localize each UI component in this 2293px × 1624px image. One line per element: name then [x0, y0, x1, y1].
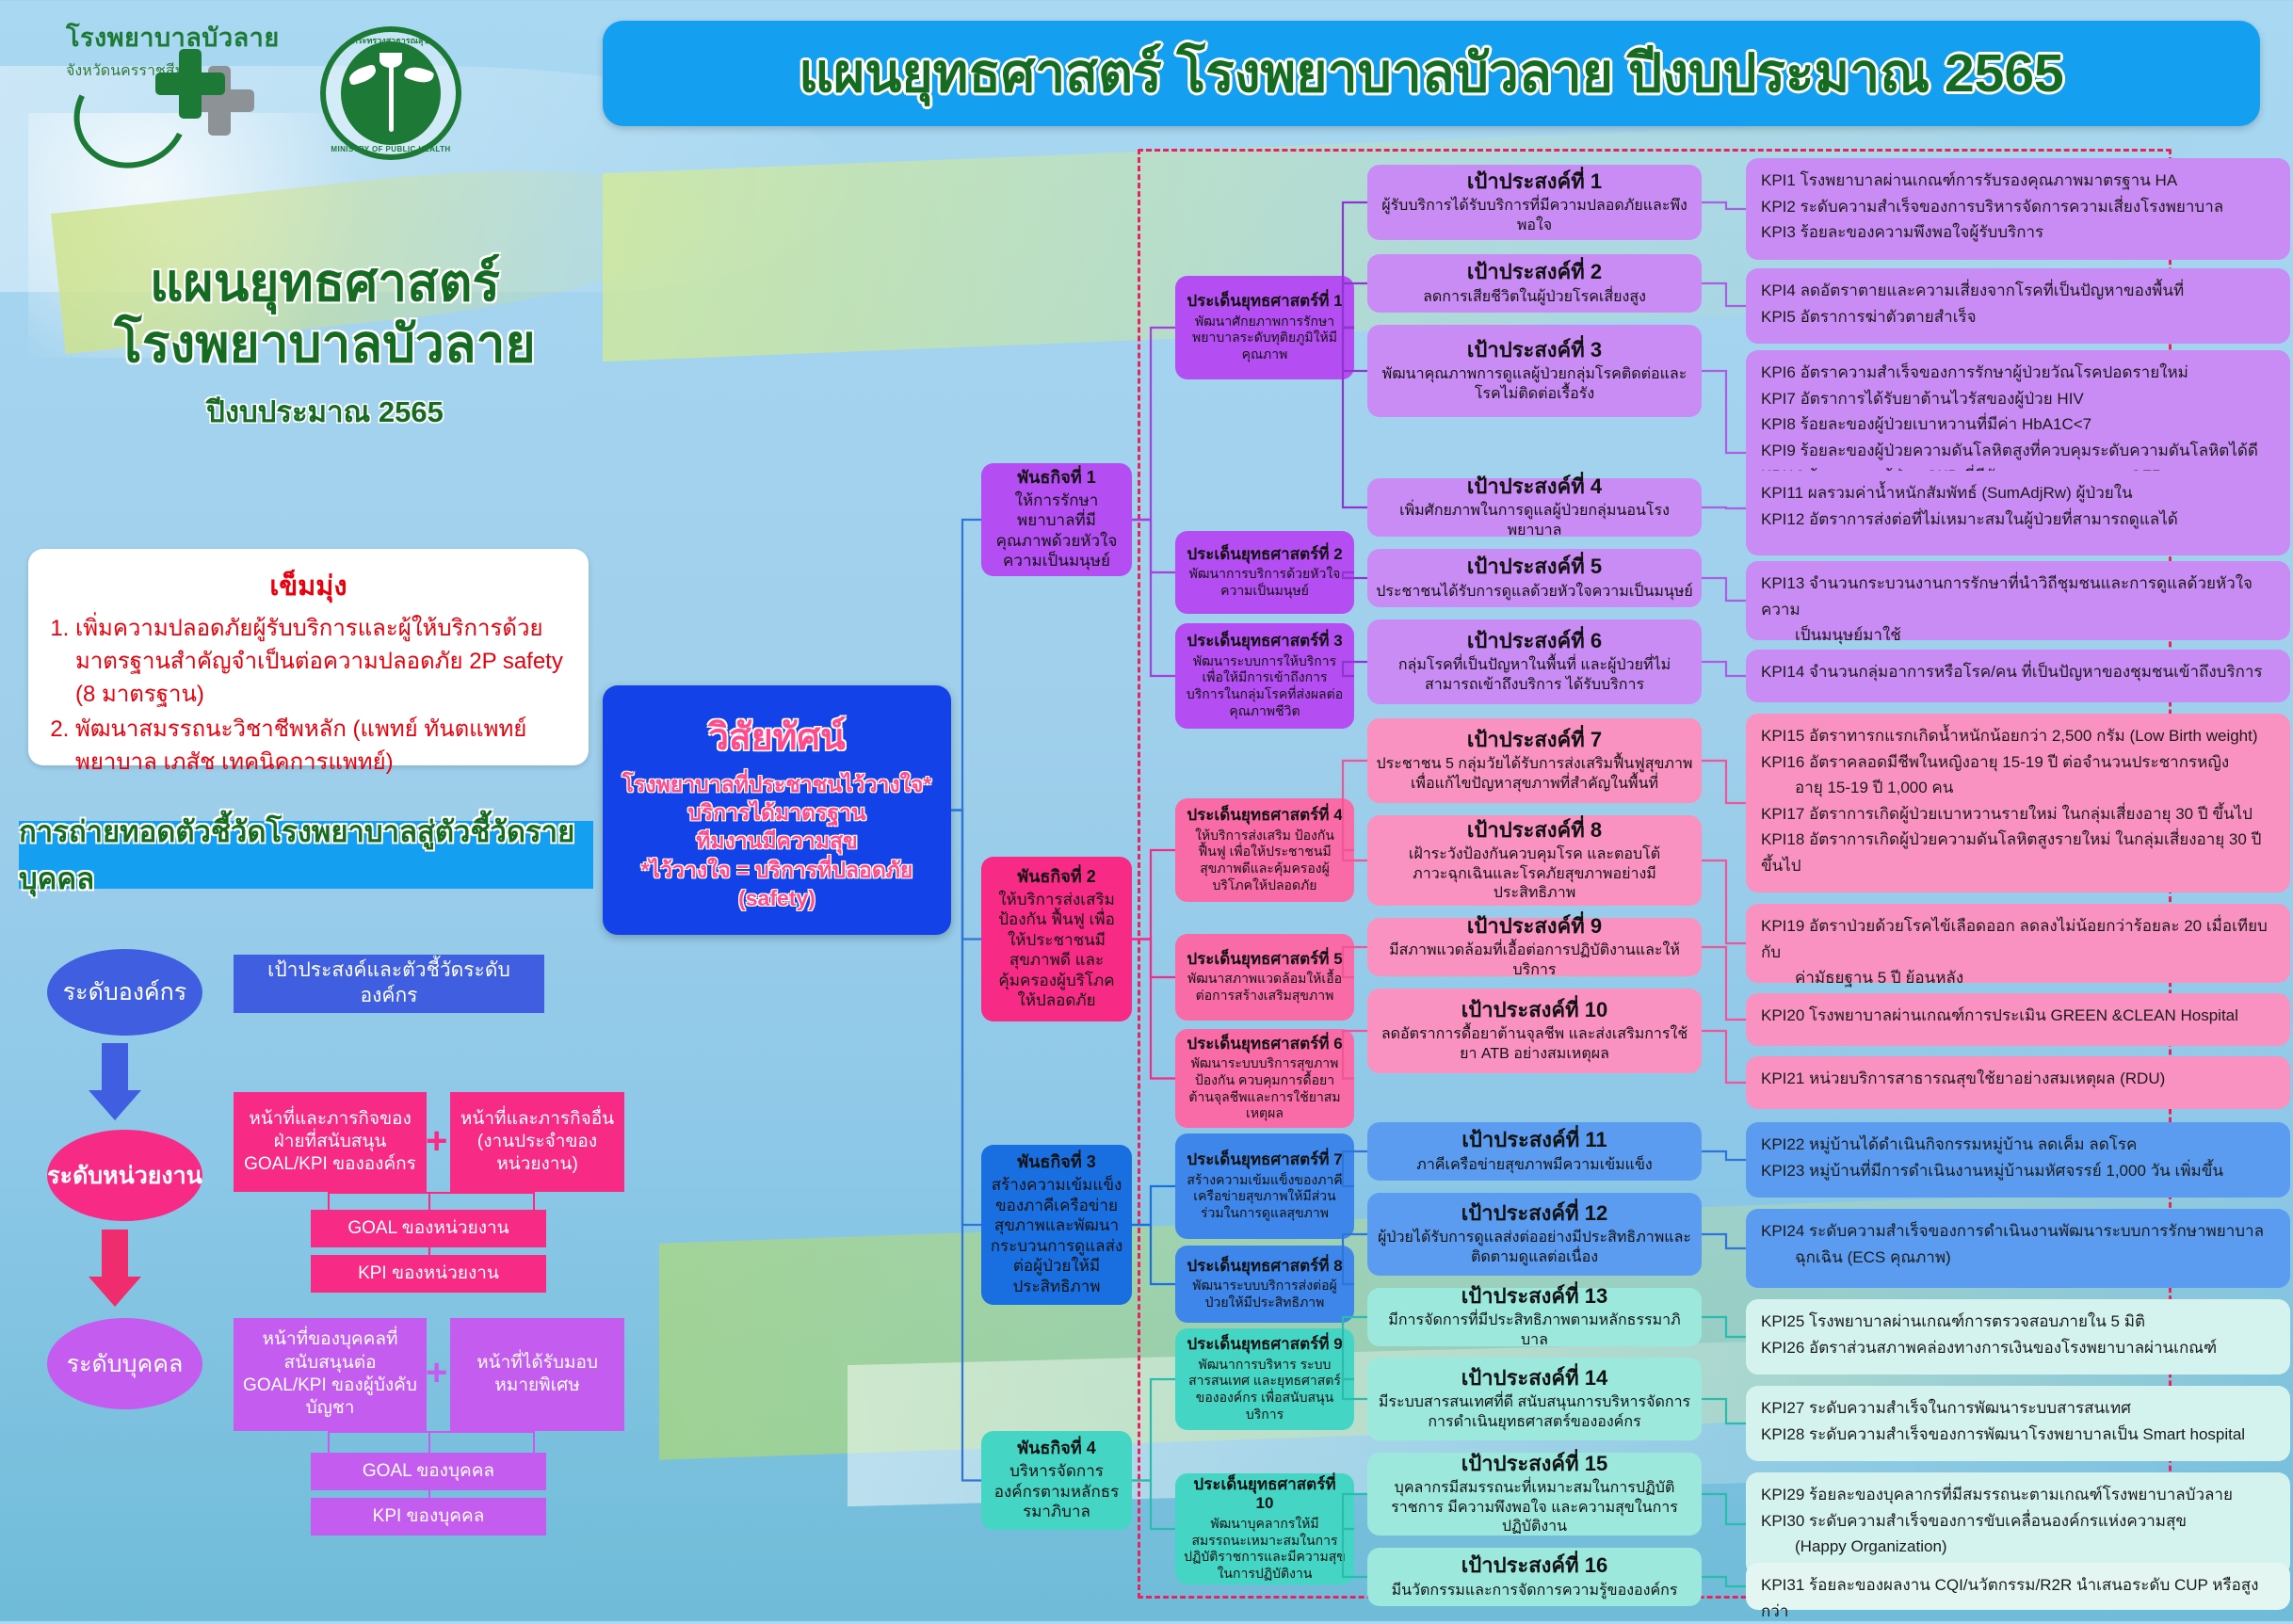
strategic-issue-box-4: ประเด็นยุทธศาสตร์ที่ 4 ให้บริการส่งเสริม… [1175, 798, 1354, 902]
objective-box-9: เป้าประสงค์ที่ 9 มีสภาพแวดล้อมที่เอื้อต่… [1367, 918, 1702, 976]
objective-body: ประชาชน 5 กลุ่มวัยได้รับการส่งเสริมฟื้นฟ… [1376, 755, 1693, 794]
vision-line: โรงพยาบาลที่ประชาชนไว้วางใจ* [622, 770, 932, 798]
objective-box-3: เป้าประสงค์ที่ 3 พัฒนาคุณภาพการดูแลผู้ป่… [1367, 325, 1702, 417]
arrow-down-pink-shaft [102, 1230, 128, 1278]
objective-box-8: เป้าประสงค์ที่ 8 เฝ้าระวังป้องกันควบคุมโ… [1367, 815, 1702, 906]
cascade-level-person: ระดับบุคคล [47, 1318, 202, 1409]
kpi-line: KPI5 อัตราการฆ่าตัวตายสำเร็จ [1761, 304, 2275, 330]
kpi-line: KPI21 หน่วยบริการสาธารณสุขใช้ยาอย่างสมเห… [1761, 1066, 2275, 1092]
mission-box-3: พันธกิจที่ 3 สร้างความเข้มแข็งของภาคีเคร… [981, 1145, 1132, 1305]
kpi-line: KPI13 จำนวนกระบวนงานการรักษาที่นำวิถีชุม… [1761, 571, 2275, 622]
strategic-issue-body: สร้างความเข้มแข็งของภาคีเครือข่ายสุขภาพใ… [1184, 1172, 1346, 1222]
left-title-line2: โรงพยาบาลบัวลาย [42, 314, 607, 375]
plus-icon-person: + [426, 1354, 447, 1391]
objective-box-10: เป้าประสงค์ที่ 10 ลดอัตราการดื้อยาต้านจุ… [1367, 989, 1702, 1073]
kpi-line: KPI14 จำนวนกลุ่มอาการหรือโรค/คน ที่เป็นป… [1761, 659, 2275, 685]
objective-body: เพิ่มศักยภาพในการดูแลผู้ป่วยกลุ่มนอนโรงพ… [1376, 502, 1693, 540]
kpi-line: KPI1 โรงพยาบาลผ่านเกณฑ์การรับรองคุณภาพมา… [1761, 168, 2275, 194]
objective-box-4: เป้าประสงค์ที่ 4 เพิ่มศักยภาพในการดูแลผู… [1367, 478, 1702, 537]
strategic-issue-box-9: ประเด็นยุทธศาสตร์ที่ 9 พัฒนาการบริหาร ระ… [1175, 1328, 1354, 1430]
cascade-banner: การถ่ายทอดตัวชี้วัดโรงพยาบาลสู่ตัวชี้วัด… [19, 821, 593, 889]
kpi-group-15: KPI29 ร้อยละของบุคลากรที่มีสมรรถนะตามเกณ… [1746, 1472, 2290, 1576]
strategic-issue-title: ประเด็นยุทธศาสตร์ที่ 8 [1187, 1257, 1342, 1276]
objective-body: ผู้รับบริการได้รับบริการที่มีความปลอดภัย… [1376, 197, 1693, 235]
strategic-issue-body: ให้บริการส่งเสริม ป้องกัน ฟื้นฟู เพื่อให… [1184, 828, 1346, 894]
objective-body: ลดการเสียชีวิตในผู้ป่วยโรคเสี่ยงสูง [1423, 288, 1646, 307]
left-title-line3: ปีงบประมาณ 2565 [42, 388, 607, 435]
cascade-person-kpi: KPI ของบุคคล [311, 1498, 546, 1536]
objective-body: ประชาชนได้รับการดูแลด้วยหัวใจความเป็นมนุ… [1376, 583, 1693, 602]
kpi-line: KPI4 ลดอัตราตายและความเสี่ยงจากโรคที่เป็… [1761, 278, 2275, 304]
objective-title: เป้าประสงค์ที่ 15 [1461, 1452, 1607, 1476]
connector-person-left [328, 1431, 330, 1453]
objective-body: ลดอัตราการดื้อยาต้านจุลชีพ และส่งเสริมกา… [1376, 1025, 1693, 1064]
cascade-person-box-2: หน้าที่ได้รับมอบหมายพิเศษ [450, 1318, 624, 1431]
arrow-down-pink-head [89, 1277, 141, 1307]
mission-title: พันธกิจที่ 4 [1017, 1439, 1095, 1459]
kpi-line: ฉุกเฉิน (ECS คุณภาพ) [1761, 1245, 2275, 1271]
kpi-group-2: KPI4 ลดอัตราตายและความเสี่ยงจากโรคที่เป็… [1746, 268, 2290, 344]
vision-card: วิสัยทัศน์ โรงพยาบาลที่ประชาชนไว้วางใจ* … [603, 685, 951, 935]
kpi-line: KPI15 อัตราทารกแรกเกิดน้ำหนักน้อยกว่า 2,… [1761, 723, 2275, 749]
kpi-group-6: KPI14 จำนวนกลุ่มอาการหรือโรค/คน ที่เป็นป… [1746, 650, 2290, 702]
focus-points-card: เข็มมุ่ง เพิ่มความปลอดภัยผู้รับบริการและ… [28, 549, 589, 765]
arrow-down-blue-shaft [102, 1043, 128, 1092]
objective-box-14: เป้าประสงค์ที่ 14 มีระบบสารสนเทศที่ดี สน… [1367, 1358, 1702, 1440]
kpi-line: KPI25 โรงพยาบาลผ่านเกณฑ์การตรวจสอบภายใน … [1761, 1309, 2275, 1335]
cascade-level-unit: ระดับหน่วยงาน [47, 1130, 202, 1221]
objective-body: บุคลากรมีสมรรถนะที่เหมาะสมในการปฏิบัติรา… [1376, 1479, 1693, 1536]
objective-title: เป้าประสงค์ที่ 8 [1467, 818, 1602, 843]
connector-unit-mid [428, 1247, 430, 1255]
kpi-group-12: KPI24 ระดับความสำเร็จของการดำเนินงานพัฒน… [1746, 1209, 2290, 1288]
connector-person-right [533, 1431, 535, 1453]
mission-title: พันธกิจที่ 3 [1017, 1152, 1095, 1173]
mission-body: สร้างความเข้มแข็งของภาคีเครือข่ายสุขภาพแ… [990, 1175, 1123, 1296]
strategic-issue-box-7: ประเด็นยุทธศาสตร์ที่ 7 สร้างความเข้มแข็ง… [1175, 1134, 1354, 1239]
cascade-level-org: ระดับองค์กร [47, 949, 202, 1036]
page-title: แผนยุทธศาสตร์ โรงพยาบาลบัวลาย ปีงบประมาณ… [799, 31, 2064, 116]
kpi-line: KPI6 อัตราความสำเร็จของการรักษาผู้ป่วยวั… [1761, 360, 2275, 386]
objective-box-12: เป้าประสงค์ที่ 12 ผู้ป่วยได้รับการดูแลส่… [1367, 1193, 1702, 1276]
moph-seal-icon: กระทรวงสาธารณสุข MINISTRY OF PUBLIC HEAL… [320, 26, 461, 160]
strategic-issue-title: ประเด็นยุทธศาสตร์ที่ 1 [1187, 292, 1342, 311]
kpi-line: KPI29 ร้อยละของบุคลากรที่มีสมรรถนะตามเกณ… [1761, 1482, 2275, 1508]
mission-title: พันธกิจที่ 1 [1017, 468, 1095, 489]
kpi-line: KPI2 ระดับความสำเร็จของการบริหารจัดการคว… [1761, 194, 2275, 220]
kpi-line: KPI12 อัตราการส่งต่อที่ไม่เหมาะสมในผู้ป่… [1761, 506, 2275, 533]
kpi-line: KPI22 หมู่บ้านได้ดำเนินกิจกรรมหมู่บ้าน ล… [1761, 1132, 2275, 1158]
objective-body: ภาคีเครือข่ายสุขภาพมีความเข้มแข็ง [1416, 1156, 1652, 1175]
kpi-line: KPI8 ร้อยละของผู้ป่วยเบาหวานที่มีค่า HbA… [1761, 411, 2275, 438]
kpi-group-16: KPI31 ร้อยละของผลงาน CQI/นวัตกรรม/R2R นำ… [1746, 1563, 2290, 1610]
connector-person-vertical [428, 1431, 430, 1453]
vision-line: ทีมงานมีความสุข [696, 827, 858, 855]
connector-person-mid [428, 1490, 430, 1498]
vision-line: *ไว้วางใจ = บริการที่ปลอดภัย (safety) [610, 856, 944, 913]
objective-title: เป้าประสงค์ที่ 6 [1467, 629, 1602, 653]
strategic-issue-body: พัฒนาการบริการด้วยหัวใจความเป็นมนุษย์ [1184, 566, 1346, 600]
connector-unit-vertical [428, 1192, 430, 1210]
cascade-unit-goal: GOAL ของหน่วยงาน [311, 1210, 546, 1247]
kpi-line: KPI7 อัตราการได้รับยาต้านไวรัสของผู้ป่วย… [1761, 386, 2275, 412]
mission-body: ให้บริการส่งเสริม ป้องกัน ฟื้นฟู เพื่อให… [990, 890, 1123, 1011]
kpi-line: (Happy Organization) [1761, 1534, 2275, 1560]
kpi-group-4: KPI11 ผลรวมค่าน้ำหนักสัมพัทธ์ (SumAdjRw)… [1746, 471, 2290, 546]
cascade-banner-title: การถ่ายทอดตัวชี้วัดโรงพยาบาลสู่ตัวชี้วัด… [19, 808, 593, 902]
objective-title: เป้าประสงค์ที่ 14 [1461, 1366, 1607, 1391]
kpi-line: KPI19 อัตราป่วยด้วยโรคไข้เลือดออก ลดลงไม… [1761, 913, 2275, 965]
focus-point-item: เพิ่มความปลอดภัยผู้รับบริการและผู้ให้บริ… [75, 613, 573, 711]
focus-point-item: พัฒนาสมรรถนะวิชาชีพหลัก (แพทย์ ทันตแพทย์… [75, 714, 573, 780]
mission-box-1: พันธกิจที่ 1 ให้การรักษาพยาบาลที่มีคุณภา… [981, 463, 1132, 576]
strategic-issue-body: พัฒนาระบบบริการสุขภาพ ป้องกัน ควบคุมการด… [1184, 1055, 1346, 1122]
objective-title: เป้าประสงค์ที่ 1 [1467, 169, 1602, 194]
mission-body: ให้การรักษาพยาบาลที่มีคุณภาพด้วยหัวใจควา… [990, 490, 1123, 571]
strategic-issue-title: ประเด็นยุทธศาสตร์ที่ 6 [1187, 1035, 1342, 1053]
strategic-issue-box-1: ประเด็นยุทธศาสตร์ที่ 1 พัฒนาศักยภาพการรั… [1175, 276, 1354, 379]
cascade-person-box-1: หน้าที่ของบุคคลที่สนับสนุนต่อ GOAL/KPI ข… [234, 1318, 427, 1431]
objective-box-16: เป้าประสงค์ที่ 16 มีนวัตกรรมและการจัดการ… [1367, 1548, 1702, 1606]
strategic-issue-title: ประเด็นยุทธศาสตร์ที่ 5 [1187, 950, 1342, 969]
kpi-line: เป็นมนุษย์มาใช้ [1761, 622, 2275, 649]
moph-seal-english-text: MINISTRY OF PUBLIC HEALTH [320, 145, 461, 153]
strategic-issue-body: พัฒนาศักยภาพการรักษาพยาบาลระดับทุติยภูมิ… [1184, 314, 1346, 363]
strategic-issue-title: ประเด็นยุทธศาสตร์ที่ 2 [1187, 545, 1342, 564]
connector-unit-right [533, 1192, 535, 1210]
kpi-group-13: KPI25 โรงพยาบาลผ่านเกณฑ์การตรวจสอบภายใน … [1746, 1299, 2290, 1375]
mission-box-2: พันธกิจที่ 2 ให้บริการส่งเสริม ป้องกัน ฟ… [981, 857, 1132, 1021]
focus-points-list: เพิ่มความปลอดภัยผู้รับบริการและผู้ให้บริ… [43, 613, 573, 780]
strategic-issue-body: พัฒนาระบบบริการส่งต่อผู้ป่วยให้มีประสิทธ… [1184, 1278, 1346, 1311]
kpi-group-11: KPI22 หมู่บ้านได้ดำเนินกิจกรรมหมู่บ้าน ล… [1746, 1122, 2290, 1198]
objective-box-7: เป้าประสงค์ที่ 7 ประชาชน 5 กลุ่มวัยได้รั… [1367, 718, 1702, 803]
strategic-issue-title: ประเด็นยุทธศาสตร์ที่ 4 [1187, 806, 1342, 825]
connector-person-horizontal [328, 1431, 535, 1433]
plus-icon-unit: + [426, 1122, 447, 1160]
kpi-line: อายุ 15-19 ปี 1,000 คน [1761, 775, 2275, 801]
vision-heading: วิสัยทัศน์ [708, 708, 846, 766]
cascade-unit-box-2: หน้าที่และภารกิจอื่น (งานประจำของหน่วยงา… [450, 1092, 624, 1192]
kpi-line: KPI3 ร้อยละของความพึงพอใจผู้รับบริการ [1761, 219, 2275, 246]
objective-title: เป้าประสงค์ที่ 7 [1467, 728, 1602, 752]
kpi-line: KPI24 ระดับความสำเร็จของการดำเนินงานพัฒน… [1761, 1218, 2275, 1245]
mission-box-4: พันธกิจที่ 4 บริหารจัดการองค์กรตามหลักธร… [981, 1431, 1132, 1530]
kpi-line: KPI17 อัตราการเกิดผู้ป่วยเบาหวานรายใหม่ … [1761, 801, 2275, 828]
left-title-line1: แผนยุทธศาสตร์ [42, 252, 607, 314]
objective-box-5: เป้าประสงค์ที่ 5 ประชาชนได้รับการดูแลด้ว… [1367, 549, 1702, 607]
kpi-line: KPI11 ผลรวมค่าน้ำหนักสัมพัทธ์ (SumAdjRw)… [1761, 480, 2275, 506]
objective-box-13: เป้าประสงค์ที่ 13 มีการจัดการที่มีประสิท… [1367, 1288, 1702, 1346]
strategic-issue-box-10: ประเด็นยุทธศาสตร์ที่ 10 พัฒนาบุคลากรให้ม… [1175, 1473, 1354, 1584]
objective-box-6: เป้าประสงค์ที่ 6 กลุ่มโรคที่เป็นปัญหาในพ… [1367, 619, 1702, 704]
green-cross-icon [155, 49, 225, 119]
strategic-issue-title: ประเด็นยุทธศาสตร์ที่ 7 [1187, 1150, 1342, 1169]
kpi-group-1: KPI1 โรงพยาบาลผ่านเกณฑ์การรับรองคุณภาพมา… [1746, 158, 2290, 260]
strategic-issue-box-5: ประเด็นยุทธศาสตร์ที่ 5 พัฒนาสภาพแวดล้อมใ… [1175, 934, 1354, 1021]
strategic-issue-title: ประเด็นยุทธศาสตร์ที่ 9 [1187, 1335, 1342, 1354]
objective-title: เป้าประสงค์ที่ 16 [1461, 1553, 1607, 1578]
kpi-group-10: KPI21 หน่วยบริการสาธารณสุขใช้ยาอย่างสมเห… [1746, 1056, 2290, 1109]
kpi-group-5: KPI13 จำนวนกระบวนงานการรักษาที่นำวิถีชุม… [1746, 561, 2290, 640]
objective-box-15: เป้าประสงค์ที่ 15 บุคลากรมีสมรรถนะที่เหม… [1367, 1453, 1702, 1536]
arrow-down-blue-head [89, 1090, 141, 1120]
strategic-issue-title: ประเด็นยุทธศาสตร์ที่ 3 [1187, 632, 1342, 651]
objective-body: มีสภาพแวดล้อมที่เอื้อต่อการปฏิบัติงานและ… [1376, 941, 1693, 980]
left-title-block: แผนยุทธศาสตร์ โรงพยาบาลบัวลาย ปีงบประมาณ… [42, 252, 607, 435]
mission-body: บริหารจัดการองค์กรตามหลักธรรมาภิบาล [990, 1461, 1123, 1522]
strategic-issue-box-2: ประเด็นยุทธศาสตร์ที่ 2 พัฒนาการบริการด้ว… [1175, 531, 1354, 614]
objective-title: เป้าประสงค์ที่ 11 [1461, 1128, 1607, 1152]
cascade-unit-box-1: หน้าที่และภารกิจของฝ่ายที่สนับสนุน GOAL/… [234, 1092, 427, 1192]
kpi-group-8: KPI19 อัตราป่วยด้วยโรคไข้เลือดออก ลดลงไม… [1746, 904, 2290, 983]
strategic-issue-title: ประเด็นยุทธศาสตร์ที่ 10 [1184, 1475, 1346, 1514]
kpi-line: ค่ามัธยฐาน 5 ปี ย้อนหลัง [1761, 965, 2275, 991]
strategic-issue-body: พัฒนาสภาพแวดล้อมให้เอื้อต่อการสร้างเสริม… [1184, 971, 1346, 1005]
objective-title: เป้าประสงค์ที่ 5 [1467, 555, 1602, 579]
cascade-unit-kpi: KPI ของหน่วยงาน [311, 1255, 546, 1293]
objective-body: มีนวัตกรรมและการจัดการความรู้ขององค์กร [1392, 1582, 1678, 1600]
focus-points-heading: เข็มมุ่ง [43, 564, 573, 607]
objective-body: เฝ้าระวังป้องกันควบคุมโรค และตอบโต้ภาวะฉ… [1376, 845, 1693, 903]
objective-title: เป้าประสงค์ที่ 13 [1461, 1284, 1607, 1309]
objective-box-1: เป้าประสงค์ที่ 1 ผู้รับบริการได้รับบริกา… [1367, 165, 1702, 240]
kpi-line: KPI26 อัตราส่วนสภาพคล่องทางการเงินของโรง… [1761, 1335, 2275, 1361]
strategic-issue-body: พัฒนาการบริหาร ระบบสารสนเทศ และยุทธศาสตร… [1184, 1357, 1346, 1423]
kpi-group-7: KPI15 อัตราทารกแรกเกิดน้ำหนักน้อยกว่า 2,… [1746, 714, 2290, 892]
objective-body: ผู้ป่วยได้รับการดูแลส่งต่ออย่างมีประสิทธ… [1376, 1229, 1693, 1267]
strategic-issue-box-8: ประเด็นยุทธศาสตร์ที่ 8 พัฒนาระบบบริการส่… [1175, 1246, 1354, 1323]
strategic-issue-body: พัฒนาระบบการให้บริการ เพื่อให้มีการเข้าถ… [1184, 653, 1346, 720]
mission-title: พันธกิจที่ 2 [1017, 867, 1095, 888]
strategic-issue-body: พัฒนาบุคลากรให้มีสมรรถนะเหมาะสมในการปฏิบ… [1184, 1516, 1346, 1583]
kpi-line: KPI31 ร้อยละของผลงาน CQI/นวัตกรรม/R2R นำ… [1761, 1572, 2275, 1624]
kpi-line: KPI16 อัตราคลอดมีชีพในหญิงอายุ 15-19 ปี … [1761, 749, 2275, 776]
page-title-banner: แผนยุทธศาสตร์ โรงพยาบาลบัวลาย ปีงบประมาณ… [603, 21, 2260, 126]
vision-line: บริการได้มาตรฐาน [687, 798, 865, 827]
objective-title: เป้าประสงค์ที่ 9 [1467, 914, 1602, 939]
connector-unit-left [328, 1192, 330, 1210]
moph-seal-thai-text: กระทรวงสาธารณสุข [320, 34, 461, 47]
objective-title: เป้าประสงค์ที่ 3 [1467, 338, 1602, 362]
kpi-line: KPI28 ระดับความสำเร็จของการพัฒนาโรงพยาบา… [1761, 1422, 2275, 1448]
objective-body: กลุ่มโรคที่เป็นปัญหาในพื้นที่ และผู้ป่วย… [1376, 656, 1693, 695]
objective-body: มีระบบสารสนเทศที่ดี สนับสนุนการบริหารจัด… [1376, 1393, 1693, 1432]
kpi-line: KPI18 อัตราการเกิดผู้ป่วยความดันโลหิตสูง… [1761, 827, 2275, 878]
objective-title: เป้าประสงค์ที่ 10 [1461, 998, 1607, 1022]
objective-title: เป้าประสงค์ที่ 12 [1461, 1201, 1607, 1226]
kpi-line: KPI9 ร้อยละของผู้ป่วยความดันโลหิตสูงที่ค… [1761, 438, 2275, 464]
kpi-line: KPI27 ระดับความสำเร็จในการพัฒนาระบบสารสน… [1761, 1395, 2275, 1422]
objective-box-11: เป้าประสงค์ที่ 11 ภาคีเครือข่ายสุขภาพมีค… [1367, 1122, 1702, 1181]
kpi-group-9: KPI20 โรงพยาบาลผ่านเกณฑ์การประเมิน GREEN… [1746, 993, 2290, 1046]
kpi-line: KPI30 ระดับความสำเร็จของการขับเคลื่อนองค… [1761, 1508, 2275, 1535]
objective-title: เป้าประสงค์ที่ 2 [1467, 260, 1602, 284]
cascade-person-goal: GOAL ของบุคคล [311, 1453, 546, 1490]
cascade-org-goal-box: เป้าประสงค์และตัวชี้วัดระดับองค์กร [234, 955, 544, 1013]
objective-body: มีการจัดการที่มีประสิทธิภาพตามหลักธรรมาภ… [1376, 1311, 1693, 1350]
objective-box-2: เป้าประสงค์ที่ 2 ลดการเสียชีวิตในผู้ป่วย… [1367, 254, 1702, 313]
strategic-issue-box-6: ประเด็นยุทธศาสตร์ที่ 6 พัฒนาระบบบริการสุ… [1175, 1029, 1354, 1128]
kpi-line: KPI23 หมู่บ้านที่มีการดำเนินงานหมู่บ้านม… [1761, 1158, 2275, 1184]
strategic-issue-box-3: ประเด็นยุทธศาสตร์ที่ 3 พัฒนาระบบการให้บร… [1175, 623, 1354, 729]
objective-title: เป้าประสงค์ที่ 4 [1467, 474, 1602, 499]
objective-body: พัฒนาคุณภาพการดูแลผู้ป่วยกลุ่มโรคติดต่อแ… [1376, 365, 1693, 404]
kpi-group-14: KPI27 ระดับความสำเร็จในการพัฒนาระบบสารสน… [1746, 1386, 2290, 1461]
connector-unit-horizontal [328, 1192, 535, 1194]
kpi-line: KPI20 โรงพยาบาลผ่านเกณฑ์การประเมิน GREEN… [1761, 1003, 2275, 1029]
